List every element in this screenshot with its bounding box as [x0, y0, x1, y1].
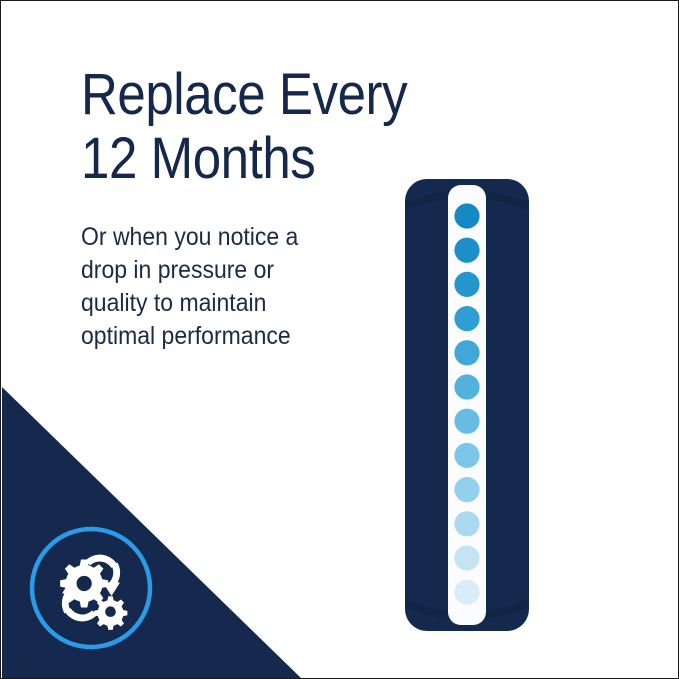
page-title: Replace Every 12 Months: [81, 63, 371, 191]
gears-refresh-cycle-icon: [60, 555, 127, 630]
subtitle-line-4: optimal performance: [81, 320, 357, 353]
filtration-dot: [454, 443, 479, 468]
filtration-dot: [454, 272, 479, 297]
filtration-dot: [454, 545, 479, 570]
headline-line-2: 12 Months: [81, 127, 371, 191]
headline-line-1: Replace Every: [81, 63, 371, 127]
text-block: Replace Every 12 Months Or when you noti…: [81, 63, 411, 353]
subtitle-line-3: quality to maintain: [81, 287, 357, 320]
filtration-dot: [454, 238, 479, 263]
filtration-dot: [454, 374, 479, 399]
filtration-dot: [454, 306, 479, 331]
infographic-card: Replace Every 12 Months Or when you noti…: [0, 0, 679, 679]
subtitle-line-1: Or when you notice a: [81, 221, 357, 254]
filtration-dot: [454, 511, 479, 536]
filtration-dot: [454, 409, 479, 434]
filtration-dot: [454, 203, 479, 228]
subtitle-line-2: drop in pressure or: [81, 254, 357, 287]
filtration-dot: [454, 340, 479, 365]
badge-alt-text: Two gears with circular refresh arrows: [1, 1, 2, 2]
subtitle: Or when you notice a drop in pressure or…: [81, 221, 357, 353]
maintenance-cycle-badge: [23, 520, 159, 656]
filtration-dot: [454, 477, 479, 502]
filtration-dot: [454, 580, 479, 605]
water-filter-cartridge: [403, 177, 531, 633]
